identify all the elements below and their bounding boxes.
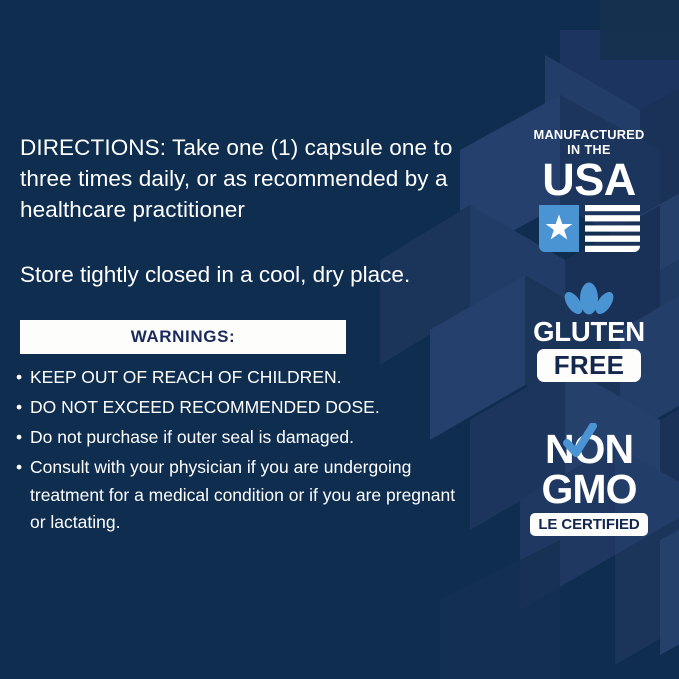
non-gmo-line1-row: NON bbox=[499, 428, 679, 470]
list-item: • Consult with your physician if you are… bbox=[16, 454, 466, 537]
warnings-heading-label: WARNINGS: bbox=[131, 327, 236, 347]
non-gmo-line3: LE CERTIFIED bbox=[538, 517, 639, 533]
list-item: • DO NOT EXCEED RECOMMENDED DOSE. bbox=[16, 394, 466, 422]
usa-badge-line1: MANUFACTURED bbox=[497, 128, 679, 142]
list-item: • KEEP OUT OF REACH OF CHILDREN. bbox=[16, 364, 466, 392]
bullet-icon: • bbox=[16, 454, 22, 482]
usa-flag-icon bbox=[539, 205, 640, 252]
gluten-free-line2: FREE bbox=[554, 352, 625, 379]
list-item-label: Consult with your physician if you are u… bbox=[30, 457, 455, 532]
product-label-panel: DIRECTIONS: Take one (1) capsule one to … bbox=[0, 0, 679, 679]
list-item-label: DO NOT EXCEED RECOMMENDED DOSE. bbox=[30, 397, 380, 417]
directions-block: DIRECTIONS: Take one (1) capsule one to … bbox=[20, 132, 480, 290]
storage-text: Store tightly closed in a cool, dry plac… bbox=[20, 259, 480, 290]
list-item: • Do not purchase if outer seal is damag… bbox=[16, 424, 466, 452]
usa-badge-line3: USA bbox=[499, 157, 679, 203]
badge-non-gmo: NON GMO LE CERTIFIED bbox=[499, 428, 679, 540]
gluten-free-pill: FREE bbox=[537, 349, 641, 382]
gluten-free-line1: GLUTEN bbox=[499, 317, 679, 347]
bullet-icon: • bbox=[16, 394, 22, 422]
non-gmo-line2: GMO bbox=[499, 468, 679, 510]
directions-text: DIRECTIONS: Take one (1) capsule one to … bbox=[20, 132, 480, 225]
certification-badges: MANUFACTURED IN THE USA bbox=[499, 0, 679, 679]
warnings-heading-box: WARNINGS: bbox=[20, 320, 346, 354]
bullet-icon: • bbox=[16, 364, 22, 392]
wheat-leaves-icon bbox=[561, 280, 617, 316]
bullet-icon: • bbox=[16, 424, 22, 452]
badge-gluten-free: GLUTEN FREE bbox=[499, 280, 679, 385]
checkmark-icon bbox=[563, 423, 597, 463]
warnings-list: • KEEP OUT OF REACH OF CHILDREN. • DO NO… bbox=[16, 364, 466, 539]
non-gmo-pill: LE CERTIFIED bbox=[530, 513, 648, 536]
badge-manufactured-in-usa: MANUFACTURED IN THE USA bbox=[499, 128, 679, 253]
list-item-label: Do not purchase if outer seal is damaged… bbox=[30, 427, 354, 447]
list-item-label: KEEP OUT OF REACH OF CHILDREN. bbox=[30, 367, 342, 387]
